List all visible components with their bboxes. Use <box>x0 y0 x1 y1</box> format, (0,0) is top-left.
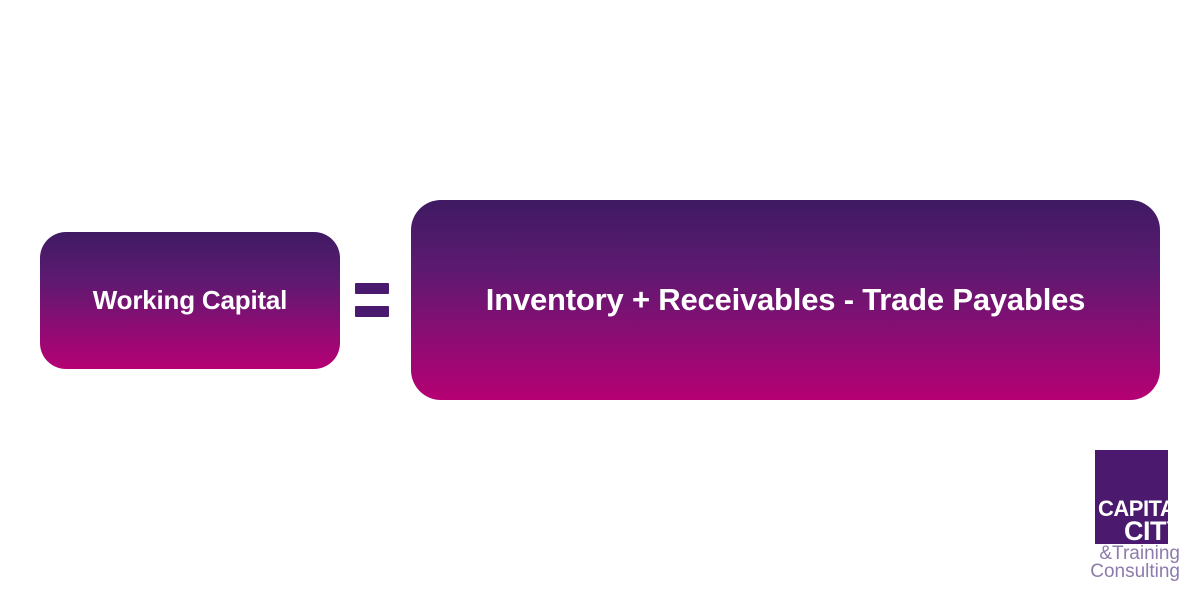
logo: CAPITAL CITY &Training Consulting <box>1060 446 1180 586</box>
logo-word-city: CITY <box>1124 518 1184 545</box>
working-capital-formula-box: Inventory + Receivables - Trade Payables <box>411 200 1160 400</box>
working-capital-formula-label: Inventory + Receivables - Trade Payables <box>486 282 1085 318</box>
working-capital-label: Working Capital <box>93 286 287 316</box>
equals-bar-top <box>355 283 389 294</box>
working-capital-box: Working Capital <box>40 232 340 369</box>
equals-sign-icon <box>355 283 389 317</box>
slide-canvas: Working Capital Inventory + Receivables … <box>0 0 1200 600</box>
equals-bar-bottom <box>355 306 389 317</box>
logo-word-consulting: Consulting <box>1090 562 1180 581</box>
